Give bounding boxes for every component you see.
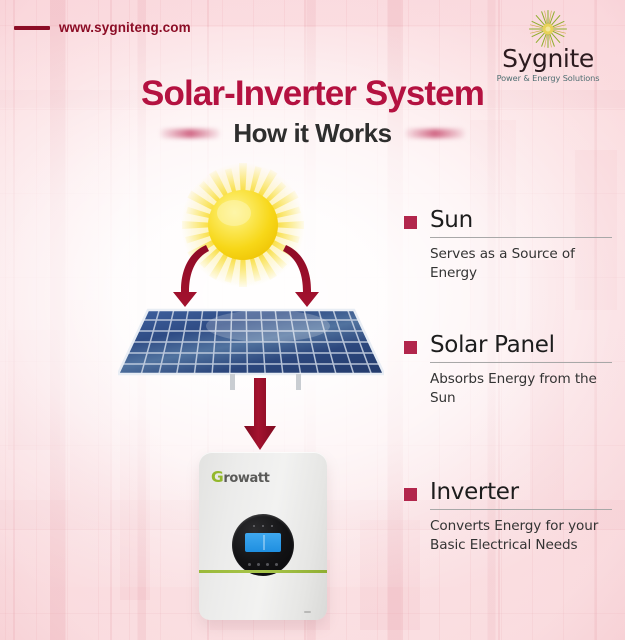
step-title: Inverter	[430, 479, 519, 505]
button-4[interactable]	[275, 563, 278, 566]
bullet-square-icon	[404, 341, 417, 354]
step-item-sun: Sun Serves as a Source of Energy	[404, 208, 612, 283]
led-1	[253, 525, 255, 527]
step-underline	[430, 362, 612, 363]
curved-arrow-down-right-icon	[283, 245, 319, 307]
growatt-brand-text: rowatt	[223, 471, 269, 486]
led-2	[262, 525, 264, 527]
curved-arrow-down-left-icon	[173, 245, 209, 307]
inverter-vent	[304, 611, 311, 613]
step-title: Solar Panel	[430, 332, 555, 358]
step-title: Sun	[430, 207, 473, 233]
logo-name: Sygnite	[489, 46, 607, 71]
led-3	[271, 525, 273, 527]
bullet-square-icon	[404, 488, 417, 501]
subtitle-dash-left-icon	[160, 129, 220, 138]
website-url[interactable]: www.sygniteng.com	[14, 20, 191, 35]
step-header: Sun	[404, 208, 612, 238]
step-underline	[430, 509, 612, 510]
status-leds	[253, 525, 273, 527]
inverter-brand-logo: Growatt	[211, 468, 269, 486]
step-item-solar-panel: Solar Panel Absorbs Energy from the Sun	[404, 333, 612, 408]
lcd-screen	[245, 533, 281, 552]
step-description: Serves as a Source of Energy	[430, 245, 612, 284]
step-description: Converts Energy for your Basic Electrica…	[430, 517, 612, 556]
step-header: Solar Panel	[404, 333, 612, 363]
arrow-down-icon	[232, 378, 288, 454]
step-item-inverter: Inverter Converts Energy for your Basic …	[404, 480, 612, 555]
infographic-poster: www.sygniteng.com	[0, 0, 625, 640]
page-title: Solar-Inverter System	[0, 76, 625, 111]
button-3[interactable]	[266, 563, 269, 566]
button-2[interactable]	[257, 563, 260, 566]
brand-logo[interactable]: Sygnite Power & Energy Solutions	[489, 8, 607, 83]
url-dash-icon	[14, 26, 50, 30]
step-description: Absorbs Energy from the Sun	[430, 370, 612, 409]
inverter-green-stripe	[199, 570, 327, 573]
page-subtitle: How it Works	[233, 120, 391, 146]
button-1[interactable]	[248, 563, 251, 566]
step-header: Inverter	[404, 480, 612, 510]
lcd-display-icon	[232, 514, 294, 576]
subtitle-dash-right-icon	[405, 129, 465, 138]
inverter-device: Growatt	[199, 452, 327, 620]
display-buttons[interactable]	[248, 563, 278, 566]
bullet-square-icon	[404, 216, 417, 229]
website-url-text: www.sygniteng.com	[59, 20, 191, 35]
step-underline	[430, 237, 612, 238]
page-subtitle-row: How it Works	[0, 120, 625, 146]
growatt-g-letter: G	[211, 468, 223, 486]
